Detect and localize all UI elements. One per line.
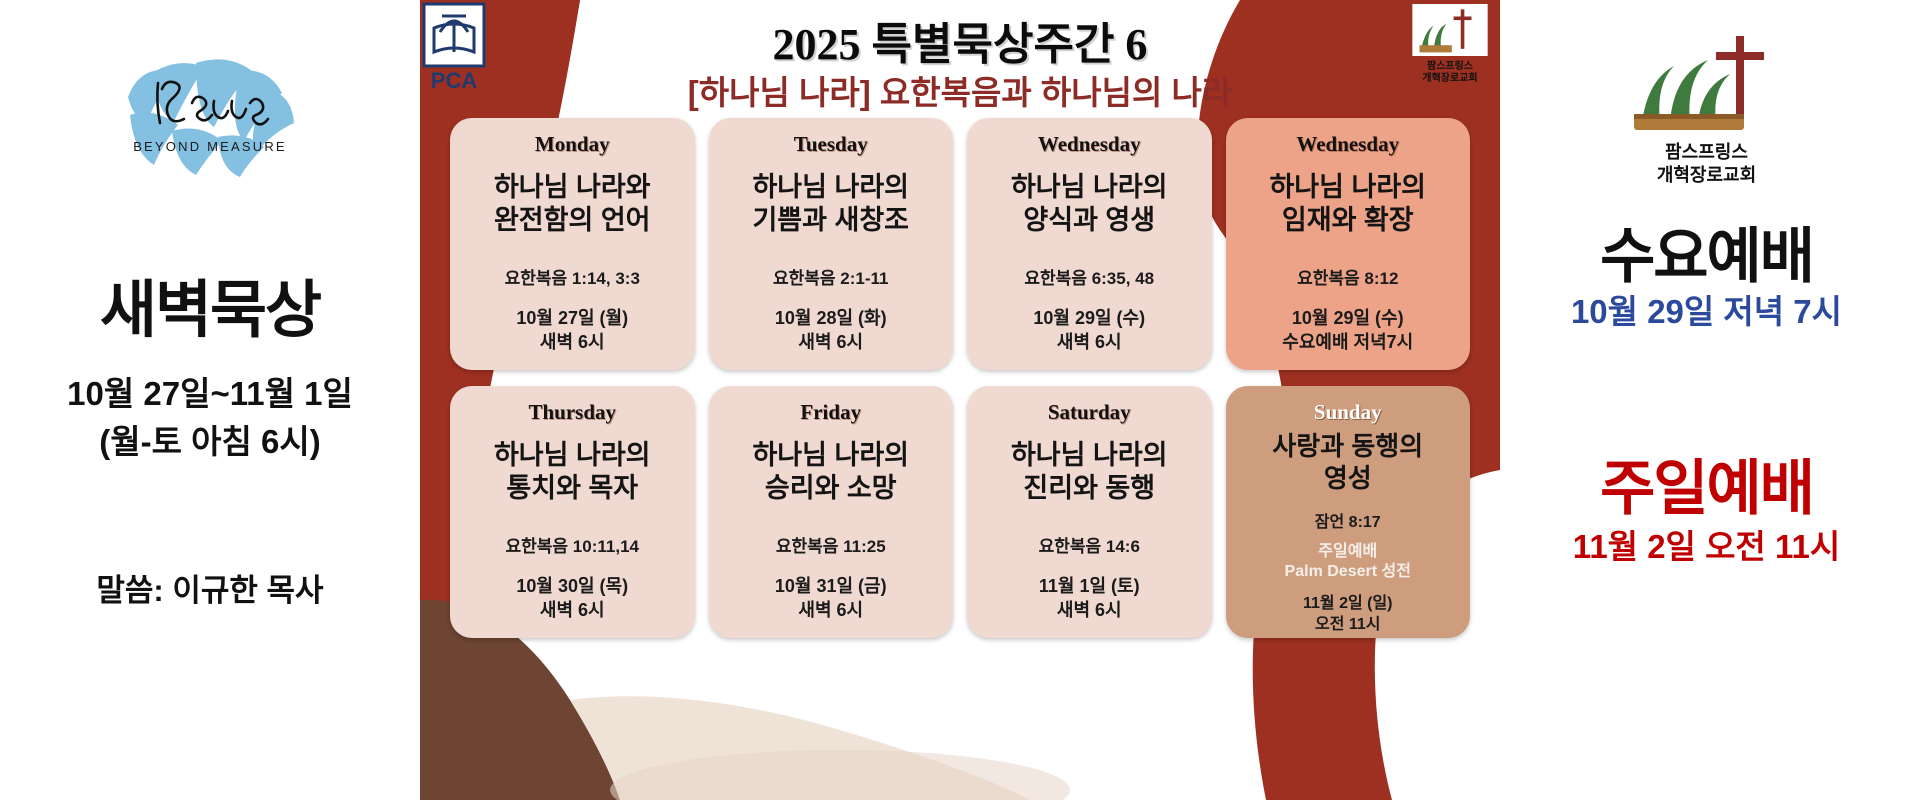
card-datetime: 10월 28일 (화) 새벽 6시 bbox=[775, 307, 887, 354]
card-title: 하나님 나라의 양식과 영생 bbox=[1011, 171, 1168, 237]
poster-stage: BEYOND MEASURE 새벽묵상 10월 27일~11월 1일 (월-토 … bbox=[0, 0, 1913, 800]
card-scripture-reference: 요한복음 1:14, 3:3 bbox=[505, 264, 640, 289]
schedule-card[interactable]: Monday 하나님 나라와 완전함의 언어 요한복음 1:14, 3:3 10… bbox=[450, 118, 695, 370]
card-title: 하나님 나라의 승리와 소망 bbox=[752, 439, 909, 505]
poster-subtitle: [하나님 나라] 요한복음과 하나님의 나라 bbox=[420, 66, 1500, 114]
schedule-card[interactable]: Saturday 하나님 나라의 진리와 동행 요한복음 14:6 11월 1일… bbox=[967, 386, 1212, 638]
card-scripture-reference: 요한복음 10:11,14 bbox=[506, 532, 639, 557]
schedule-card-sunday-service[interactable]: Sunday 사랑과 동행의 영성 잠언 8:17 주일예배 Palm Dese… bbox=[1226, 386, 1471, 638]
left-daterange-line2: (월-토 아침 6시) bbox=[0, 418, 420, 466]
card-datetime: 10월 27일 (월) 새벽 6시 bbox=[516, 307, 628, 354]
schedule-grid: Monday 하나님 나라와 완전함의 언어 요한복음 1:14, 3:3 10… bbox=[450, 118, 1470, 638]
card-datetime: 11월 2일 (일) 오전 11시 bbox=[1303, 594, 1393, 636]
card-title: 하나님 나라의 통치와 목자 bbox=[494, 439, 651, 505]
poster-title: 2025 특별묵상주간 6 bbox=[420, 8, 1500, 72]
blessed-logo-subtext: BEYOND MEASURE bbox=[133, 139, 287, 154]
schedule-card[interactable]: Friday 하나님 나라의 승리와 소망 요한복음 11:25 10월 31일… bbox=[709, 386, 954, 638]
card-day-label: Saturday bbox=[1048, 400, 1131, 425]
right-panel: 팜스프링스 개혁장로교회 수요예배 10월 29일 저녁 7시 주일예배 11월… bbox=[1500, 0, 1913, 800]
left-panel: BEYOND MEASURE 새벽묵상 10월 27일~11월 1일 (월-토 … bbox=[0, 0, 420, 800]
card-datetime: 10월 30일 (목) 새벽 6시 bbox=[516, 575, 628, 622]
card-scripture-reference: 요한복음 2:1-11 bbox=[773, 264, 889, 289]
card-scripture-reference: 요한복음 6:35, 48 bbox=[1024, 264, 1154, 289]
schedule-card[interactable]: Wednesday 하나님 나라의 양식과 영생 요한복음 6:35, 48 1… bbox=[967, 118, 1212, 370]
blessed-beyond-measure-logo: BEYOND MEASURE bbox=[100, 45, 320, 185]
card-title: 하나님 나라의 임재와 확장 bbox=[1269, 171, 1426, 237]
card-day-label: Friday bbox=[800, 400, 861, 425]
schedule-card[interactable]: Tuesday 하나님 나라의 기쁨과 새창조 요한복음 2:1-11 10월 … bbox=[709, 118, 954, 370]
church-name-line2: 개혁장로교회 bbox=[1612, 164, 1802, 187]
card-service-location: 주일예배 Palm Desert 성전 bbox=[1285, 542, 1411, 582]
left-panel-speaker: 말씀: 이규한 목사 bbox=[0, 565, 420, 610]
card-scripture-reference: 요한복음 8:12 bbox=[1297, 264, 1398, 289]
card-datetime: 10월 29일 (수) 새벽 6시 bbox=[1033, 307, 1145, 354]
card-datetime: 10월 31일 (금) 새벽 6시 bbox=[775, 575, 887, 622]
card-day-label: Thursday bbox=[528, 400, 616, 425]
card-scripture-reference: 요한복음 14:6 bbox=[1039, 532, 1140, 557]
card-title: 하나님 나라의 기쁨과 새창조 bbox=[752, 171, 909, 237]
poster-panel: PCA 팜스프링스 개혁장로교회 2025 특별묵상주간 6 [하나님 나라] … bbox=[420, 0, 1500, 800]
card-day-label: Wednesday bbox=[1296, 132, 1399, 157]
schedule-card-wednesday-service[interactable]: Wednesday 하나님 나라의 임재와 확장 요한복음 8:12 10월 2… bbox=[1226, 118, 1471, 370]
wednesday-service-title: 수요예배 bbox=[1500, 208, 1913, 295]
card-day-label: Monday bbox=[535, 132, 610, 157]
church-logo: 팜스프링스 개혁장로교회 bbox=[1612, 30, 1802, 180]
card-datetime: 11월 1일 (토) 새벽 6시 bbox=[1039, 575, 1140, 622]
church-name-line1: 팜스프링스 bbox=[1612, 141, 1802, 164]
left-panel-title: 새벽묵상 bbox=[0, 280, 420, 342]
card-title: 사랑과 동행의 영성 bbox=[1272, 431, 1423, 494]
card-day-label: Sunday bbox=[1314, 400, 1382, 425]
wednesday-service-time: 10월 29일 저녁 7시 bbox=[1500, 285, 1913, 333]
schedule-card[interactable]: Thursday 하나님 나라의 통치와 목자 요한복음 10:11,14 10… bbox=[450, 386, 695, 638]
card-title: 하나님 나라의 진리와 동행 bbox=[1011, 439, 1168, 505]
card-title: 하나님 나라와 완전함의 언어 bbox=[494, 171, 651, 237]
card-day-label: Wednesday bbox=[1038, 132, 1141, 157]
card-datetime: 10월 29일 (수) 수요예배 저녁7시 bbox=[1282, 307, 1413, 354]
left-daterange-line1: 10월 27일~11월 1일 bbox=[0, 370, 420, 418]
sunday-service-title: 주일예배 bbox=[1500, 440, 1913, 527]
card-scripture-reference: 요한복음 11:25 bbox=[776, 532, 886, 557]
left-panel-daterange: 10월 27일~11월 1일 (월-토 아침 6시) bbox=[0, 370, 420, 466]
sunday-service-time: 11월 2일 오전 11시 bbox=[1500, 520, 1913, 568]
card-scripture-reference: 잠언 8:17 bbox=[1315, 508, 1381, 532]
card-day-label: Tuesday bbox=[794, 132, 868, 157]
